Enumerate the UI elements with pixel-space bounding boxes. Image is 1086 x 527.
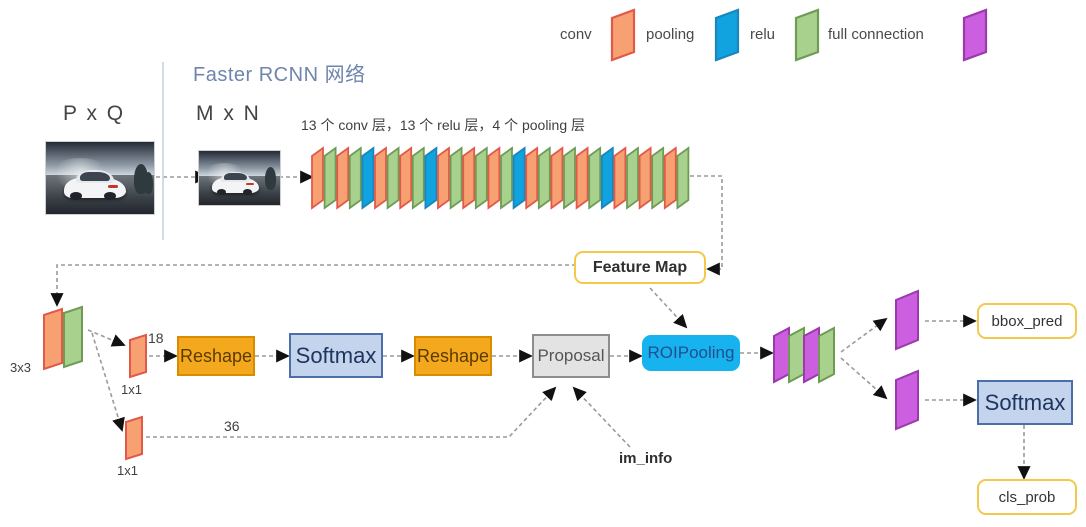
conv-layer-shape (614, 148, 625, 208)
page-title: Faster RCNN 网络 (193, 58, 366, 87)
relu-layer-shape (64, 307, 82, 367)
rpn-softmax-node[interactable]: Softmax (289, 333, 383, 378)
conv-layer-shape (463, 148, 474, 208)
cls-channels-label: 18 (148, 330, 164, 346)
parallelogram-icon (716, 10, 738, 60)
relu-layer-shape (350, 148, 361, 208)
photo-car-wheel (104, 192, 116, 200)
relu-layer-shape (501, 148, 512, 208)
legend-swatch-full-connection (956, 8, 990, 64)
resized-dim-label: M x N (196, 102, 261, 126)
diagram-canvas: conv pooling relu full connection Faster… (0, 0, 1086, 527)
parallelogram-icon (964, 10, 986, 60)
legend-label-conv: conv (560, 26, 592, 43)
head-layer-stack (770, 318, 850, 390)
legend-swatch-relu (788, 8, 822, 64)
relu-layer-shape (652, 148, 663, 208)
im-info-label: im_info (619, 450, 672, 467)
relu-layer-shape (539, 148, 550, 208)
fc-layer-shape (804, 328, 819, 382)
input-dim-label: P x Q (63, 102, 125, 126)
feature-map-node[interactable]: Feature Map (574, 251, 706, 284)
legend-swatch-conv (604, 8, 638, 64)
pooling-layer-shape (514, 148, 525, 208)
pooling-layer-shape (602, 148, 613, 208)
reg-channels-label: 36 (224, 418, 240, 434)
fc-layer-shape (896, 371, 918, 429)
conv-layer-shape (640, 148, 651, 208)
photo-car-window (224, 173, 247, 180)
photo-car-window (80, 172, 110, 181)
photo-scenery (265, 167, 276, 190)
conv-layer-shape (126, 417, 142, 459)
parallelogram-icon (796, 10, 818, 60)
conv-layer-shape (130, 335, 146, 377)
pooling-layer-shape (362, 148, 373, 208)
rpn-conv-3x3-stack (36, 305, 102, 377)
conv-layer-shape (337, 148, 348, 208)
edge-iminfo-to-proposal (574, 388, 630, 447)
resized-image-thumbnail (198, 150, 281, 206)
connector-layer (0, 0, 1086, 527)
bbox-pred-node[interactable]: bbox_pred (977, 303, 1077, 339)
conv-layer-shape (44, 309, 62, 369)
photo-car-taillight (108, 185, 118, 188)
conv-layer-shape (577, 148, 588, 208)
pooling-layer-shape (425, 148, 436, 208)
relu-layer-shape (589, 148, 600, 208)
cls-branch-kernel-label: 1x1 (121, 382, 142, 397)
proposal-node[interactable]: Proposal (532, 334, 610, 378)
photo-scenery (144, 172, 153, 194)
relu-layer-shape (451, 148, 462, 208)
input-image-thumbnail (45, 141, 155, 215)
relu-layer-shape (413, 148, 424, 208)
reg-branch-conv-1x1 (118, 414, 152, 462)
legend-swatch-pooling (708, 8, 742, 64)
conv-layer-shape (551, 148, 562, 208)
relu-layer-shape (819, 328, 834, 382)
edge-featuremap-to-roipooling (650, 288, 686, 327)
conv-layer-shape (526, 148, 537, 208)
relu-layer-shape (476, 148, 487, 208)
relu-layer-shape (388, 148, 399, 208)
fc-layer-shape (896, 291, 918, 349)
conv-layer-shape (312, 148, 323, 208)
conv-layer-shape (665, 148, 676, 208)
head-softmax-node[interactable]: Softmax (977, 380, 1073, 425)
relu-layer-shape (627, 148, 638, 208)
reg-branch-kernel-label: 1x1 (117, 463, 138, 478)
legend-label-relu: relu (750, 26, 775, 43)
fc-layer-shape (774, 328, 789, 382)
photo-car-wheel (243, 189, 252, 195)
conv-layer-shape (488, 148, 499, 208)
reshape-1-node[interactable]: Reshape (177, 336, 255, 376)
backbone-layer-stack (308, 138, 698, 218)
relu-layer-shape (789, 328, 804, 382)
edge-featuremap-to-rpn (57, 265, 576, 305)
edge-reg-to-proposal (139, 388, 555, 437)
photo-car-wheel (217, 189, 226, 195)
roipooling-node[interactable]: ROIPooling (642, 335, 740, 371)
relu-layer-shape (564, 148, 575, 208)
parallelogram-icon (612, 10, 634, 60)
legend-label-pooling: pooling (646, 26, 694, 43)
reshape-2-node[interactable]: Reshape (414, 336, 492, 376)
conv-layer-shape (400, 148, 411, 208)
conv-layer-shape (438, 148, 449, 208)
backbone-caption: 13 个 conv 层，13 个 relu 层，4 个 pooling 层 (301, 115, 585, 135)
relu-layer-shape (325, 148, 336, 208)
fc-cls-branch (886, 368, 930, 434)
cls-prob-node[interactable]: cls_prob (977, 479, 1077, 515)
photo-car-wheel (70, 192, 82, 200)
fc-bbox-branch (886, 288, 930, 354)
rpn-conv-kernel-label: 3x3 (10, 360, 31, 375)
legend-label-full-connection: full connection (828, 26, 924, 43)
conv-layer-shape (375, 148, 386, 208)
relu-layer-shape (677, 148, 688, 208)
photo-car-taillight (246, 183, 254, 185)
